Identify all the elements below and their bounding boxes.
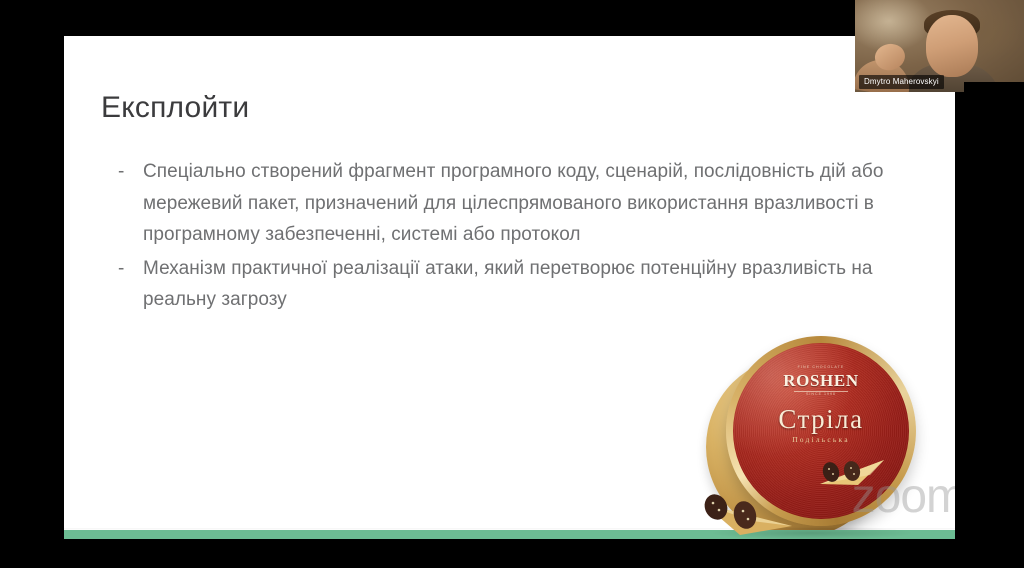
list-item: - Механізм практичної реалізації атаки, … (109, 253, 899, 316)
chocolate-cone-loose-icon (700, 482, 796, 536)
webcam-corner-mask (964, 82, 1024, 92)
page-title: Експлойти (101, 91, 249, 125)
screen-canvas: Експлойти - Спеціально створений фрагмен… (0, 0, 1024, 568)
bullet-text: Спеціально створений фрагмент програмног… (143, 156, 899, 251)
product-name: Стріла (726, 406, 916, 433)
bullet-marker-icon: - (109, 253, 143, 285)
participant-head (926, 15, 978, 77)
brand-name: ROSHEN (726, 372, 916, 389)
brand-block: FINE CHOCOLATE ROSHEN SINCE 1996 (726, 366, 916, 396)
list-item: - Спеціально створений фрагмент програмн… (109, 156, 899, 251)
chocolate-cone-print-icon (818, 454, 888, 488)
product-subtitle: Подільська (726, 436, 916, 444)
bullet-marker-icon: - (109, 156, 143, 188)
bullet-list: - Спеціально створений фрагмент програмн… (109, 156, 899, 318)
webcam-video-tile[interactable]: Dmytro Maherovskyi (855, 0, 1024, 92)
bullet-text: Механізм практичної реалізації атаки, як… (143, 253, 899, 316)
brand-tagline: FINE CHOCOLATE (726, 366, 916, 370)
brand-since: SINCE 1996 (726, 393, 916, 397)
presentation-slide: Експлойти - Спеціально створений фрагмен… (64, 36, 955, 539)
participant-name-label: Dmytro Maherovskyi (859, 75, 944, 89)
